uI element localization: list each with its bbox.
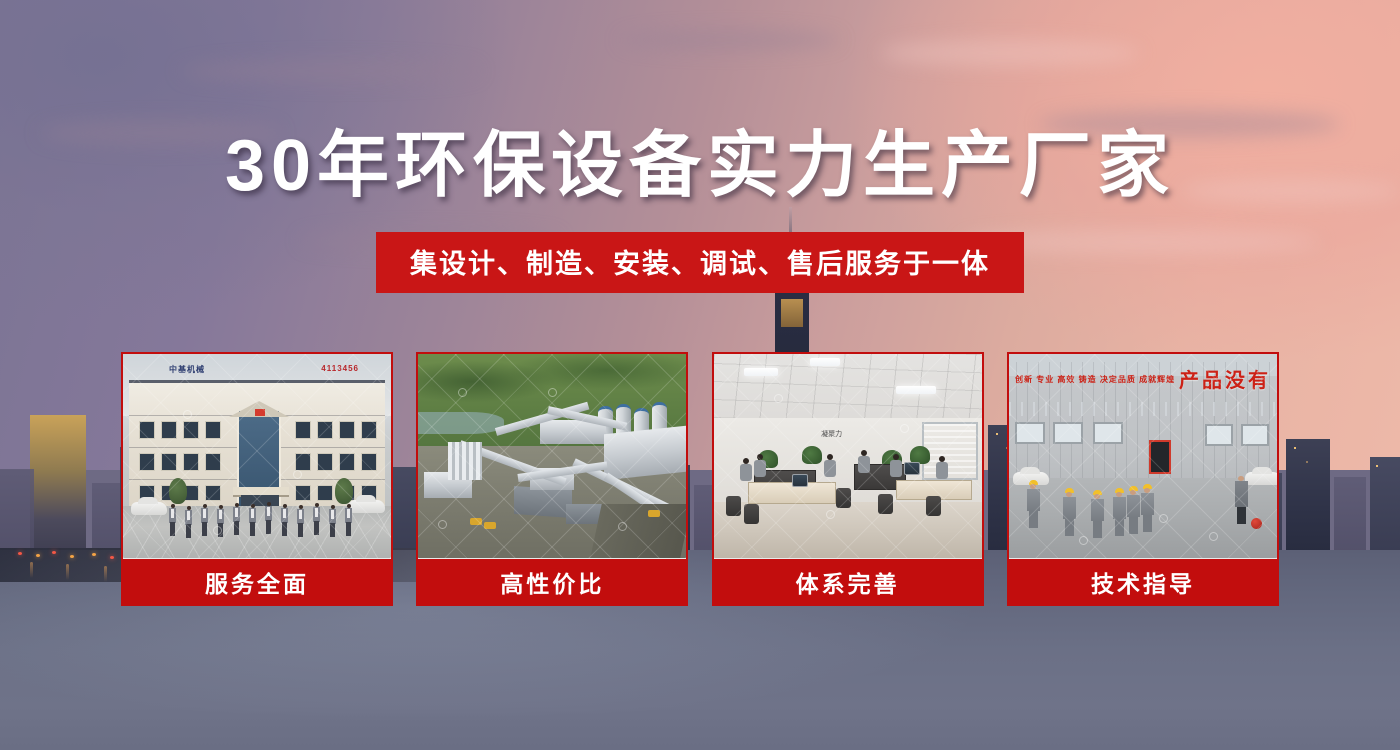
tower-crown — [781, 299, 803, 327]
card-caption-training: 技术指导 — [1009, 558, 1277, 604]
card-caption-value: 高性价比 — [418, 558, 686, 604]
office-window — [922, 422, 978, 480]
photo-industrial-plant — [418, 354, 686, 558]
factory-sign-text: 产品没有 — [1179, 364, 1271, 393]
building-sign-text: 中基机械 — [169, 364, 205, 375]
red-helmet — [1251, 518, 1262, 529]
hero-banner: 30年环保设备实力生产厂家 集设计、制造、安装、调试、售后服务于一体 — [0, 0, 1400, 750]
feature-card-value[interactable]: 高性价比 — [416, 352, 688, 606]
feature-card-system[interactable]: 凝聚力 — [712, 352, 984, 606]
photo-office-interior: 凝聚力 — [714, 354, 982, 558]
card-caption-system: 体系完善 — [714, 558, 982, 604]
feature-card-list: 中基机械 4113456 — [121, 352, 1279, 606]
subtitle-wrapper: 集设计、制造、安装、调试、售后服务于一体 — [0, 232, 1400, 293]
building-phone-text: 4113456 — [321, 364, 359, 373]
feature-card-service[interactable]: 中基机械 4113456 — [121, 352, 393, 606]
page-title: 30年环保设备实力生产厂家 — [0, 130, 1400, 202]
factory-slogan-text: 创新 专业 高效 铸造 决定品质 成就辉煌 — [1015, 374, 1175, 386]
card-caption-service: 服务全面 — [123, 558, 391, 604]
photo-headquarters-building: 中基机械 4113456 — [123, 354, 391, 558]
gold-tower — [30, 415, 86, 565]
photo-factory-workers: 产品没有 创新 专业 高效 铸造 决定品质 成就辉煌 — [1009, 354, 1277, 558]
subtitle-banner: 集设计、制造、安装、调试、售后服务于一体 — [376, 232, 1024, 293]
feature-card-training[interactable]: 产品没有 创新 专业 高效 铸造 决定品质 成就辉煌 — [1007, 352, 1279, 606]
